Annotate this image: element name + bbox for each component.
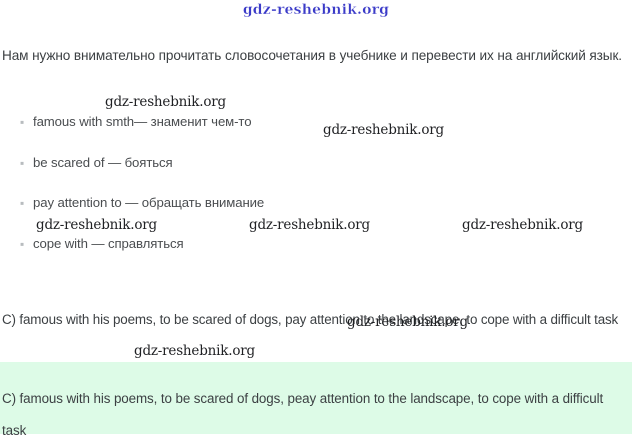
bullet-marker-icon: ▪ [20, 154, 33, 172]
list-item: ▪ be scared of — бояться [20, 154, 173, 172]
document-page: gdz-reshebnik.org Нам нужно внимательно … [0, 0, 632, 434]
list-item: ▪ cope with — справляться [20, 235, 184, 253]
body-watermark: gdz-reshebnik.org [36, 217, 157, 233]
answer-paragraph: C) famous with his poems, to be scared o… [2, 304, 632, 335]
list-item-label: famous with smth— знаменит чем-то [33, 113, 251, 131]
bullet-marker-icon: ▪ [20, 113, 33, 131]
body-watermark: gdz-reshebnik.org [347, 314, 468, 330]
bullet-marker-icon: ▪ [20, 235, 33, 253]
list-item-label: pay attention to — обращать внимание [33, 194, 264, 212]
body-watermark: gdz-reshebnik.org [323, 122, 444, 138]
intro-paragraph: Нам нужно внимательно прочитать словосоч… [2, 41, 632, 70]
body-watermark: gdz-reshebnik.org [134, 343, 255, 359]
body-watermark: gdz-reshebnik.org [105, 94, 226, 110]
body-watermark: gdz-reshebnik.org [249, 217, 370, 233]
list-item: ▪ pay attention to — обращать внимание [20, 194, 264, 212]
bullet-marker-icon: ▪ [20, 194, 33, 212]
brand-watermark: gdz-reshebnik.org [0, 2, 632, 18]
list-item-label: be scared of — бояться [33, 154, 173, 172]
answer-highlight-text: C) famous with his poems, to be scared o… [2, 383, 622, 447]
answer-highlight-box: C) famous with his poems, to be scared o… [0, 362, 632, 434]
list-item: ▪ famous with smth— знаменит чем-то [20, 113, 251, 131]
body-watermark: gdz-reshebnik.org [462, 217, 583, 233]
list-item-label: cope with — справляться [33, 235, 184, 253]
